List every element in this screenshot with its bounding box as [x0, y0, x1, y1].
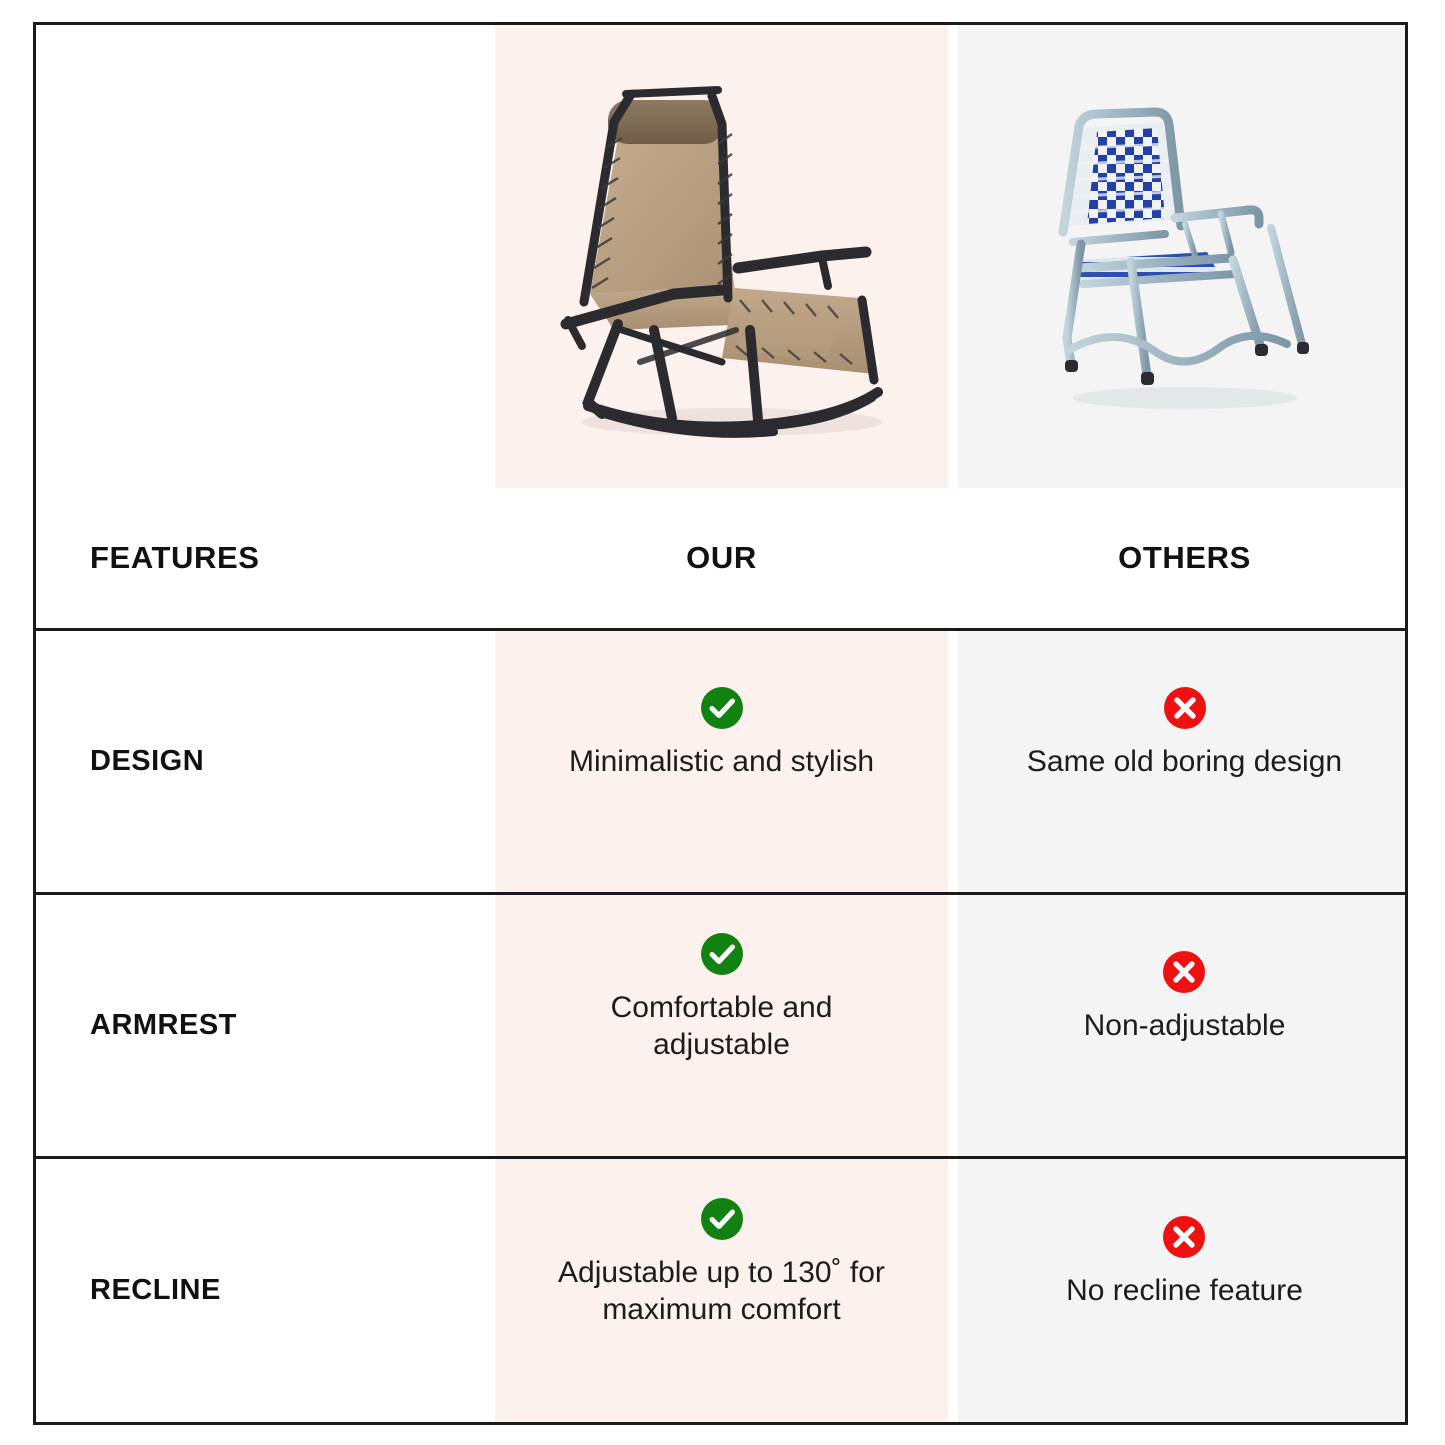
header-our: OUR: [495, 488, 948, 628]
zero-gravity-recliner-chair-image: [522, 62, 922, 452]
check-circle-icon: [700, 932, 744, 976]
feature-name: DESIGN: [90, 745, 204, 778]
our-product-image-cell: [495, 25, 948, 488]
feature-label-cell: DESIGN: [36, 631, 495, 892]
others-product-image-cell: [958, 25, 1408, 488]
cross-circle-icon: [1162, 1215, 1206, 1259]
check-circle-icon: [700, 686, 744, 730]
cross-circle-icon: [1162, 950, 1206, 994]
table-header-row: FEATURES OUR OTHERS: [36, 488, 1405, 631]
image-strip-gutter: [948, 25, 958, 488]
feature-label-cell: ARMREST: [36, 895, 495, 1156]
table-row: ARMREST Comfortable and adjustable: [36, 895, 1405, 1159]
others-value-text: Same old boring design: [1027, 744, 1342, 781]
our-value-cell: Comfortable and adjustable: [495, 895, 948, 1156]
our-value-cell: Adjustable up to 130˚ for maximum comfor…: [495, 1159, 948, 1422]
others-value-cell: Same old boring design: [958, 631, 1408, 892]
feature-name: ARMREST: [90, 1009, 237, 1042]
cross-circle-icon: [1163, 686, 1207, 730]
header-features: FEATURES: [36, 488, 495, 628]
others-value-text: Non-adjustable: [1084, 1008, 1286, 1045]
feature-label-cell: RECLINE: [36, 1159, 495, 1422]
others-value-text: No recline feature: [1066, 1273, 1303, 1310]
comparison-table: FEATURES OUR OTHERS DESIGN Minimalistic …: [33, 22, 1408, 1425]
header-others: OTHERS: [958, 488, 1408, 628]
others-value-cell: Non-adjustable: [958, 895, 1408, 1156]
product-image-strip: [36, 25, 1405, 488]
our-value-text: Comfortable and adjustable: [567, 990, 877, 1063]
our-value-cell: Minimalistic and stylish: [495, 631, 948, 892]
folding-webbed-lawn-chair-image: [1035, 92, 1335, 422]
image-strip-empty-cell: [36, 25, 495, 488]
our-value-text: Adjustable up to 130˚ for maximum comfor…: [532, 1255, 912, 1328]
table-row: DESIGN Minimalistic and stylish: [36, 631, 1405, 895]
check-circle-icon: [700, 1197, 744, 1241]
others-value-cell: No recline feature: [958, 1159, 1408, 1422]
our-value-text: Minimalistic and stylish: [569, 744, 874, 781]
table-row: RECLINE Adjustable up to 130˚ for maximu…: [36, 1159, 1405, 1422]
feature-name: RECLINE: [90, 1274, 221, 1307]
